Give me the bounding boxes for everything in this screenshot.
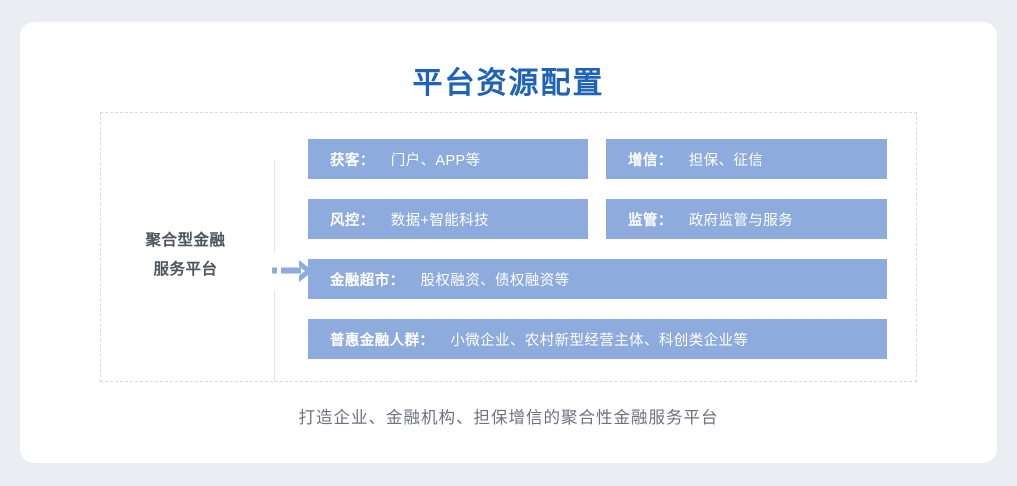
vertical-divider-upper <box>274 160 275 252</box>
resource-box-value: 数据+智能科技 <box>391 209 489 230</box>
resource-box-value: 小微企业、农村新型经营主体、科创类企业等 <box>450 329 748 350</box>
resource-box-risk-control[interactable]: 风控： 数据+智能科技 <box>308 199 588 239</box>
resource-box-key: 获客： <box>330 149 375 170</box>
resource-box-key: 监管： <box>628 209 673 230</box>
resource-box-credit-enhancement[interactable]: 增信： 担保、征信 <box>606 139 887 179</box>
resource-box-key: 风控： <box>330 209 375 230</box>
vertical-divider-lower <box>274 290 275 382</box>
resource-box-supervision[interactable]: 监管： 政府监管与服务 <box>606 199 887 239</box>
resource-box-key: 增信： <box>628 149 673 170</box>
resource-box-financial-supermarket[interactable]: 金融超市： 股权融资、债权融资等 <box>308 259 887 299</box>
slide-caption: 打造企业、金融机构、担保增信的聚合性金融服务平台 <box>20 404 997 428</box>
resource-box-value: 门户、APP等 <box>391 149 481 170</box>
platform-label: 聚合型金融 服务平台 <box>123 226 248 284</box>
resource-box-inclusive-finance-group[interactable]: 普惠金融人群： 小微企业、农村新型经营主体、科创类企业等 <box>308 319 887 359</box>
slide-card: 平台资源配置 聚合型金融 服务平台 获客： 门户、APP等 增信： 担保、征信 … <box>20 22 997 463</box>
page-title: 平台资源配置 <box>20 58 997 102</box>
resource-box-value: 股权融资、债权融资等 <box>421 269 570 290</box>
resource-box-acquisition[interactable]: 获客： 门户、APP等 <box>308 139 588 179</box>
platform-label-line-1: 聚合型金融 <box>123 226 248 255</box>
resource-box-key: 金融超市： <box>330 269 405 290</box>
resource-box-value: 担保、征信 <box>689 149 764 170</box>
resource-box-key: 普惠金融人群： <box>330 329 434 350</box>
platform-label-line-2: 服务平台 <box>123 255 248 284</box>
resource-box-value: 政府监管与服务 <box>689 209 793 230</box>
